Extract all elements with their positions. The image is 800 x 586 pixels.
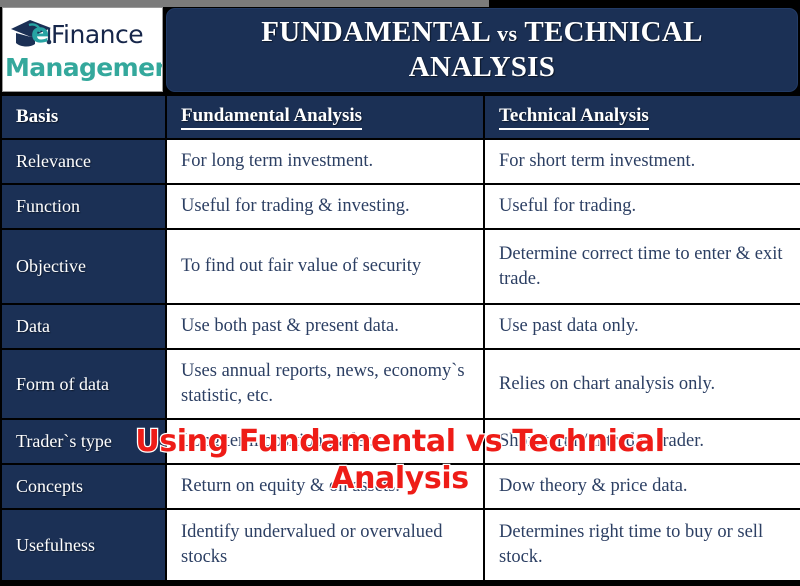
- row-fundamental-value: To find out fair value of security: [166, 229, 484, 304]
- title-part-analysis: ANALYSIS: [409, 51, 555, 83]
- column-header-fundamental: Fundamental Analysis: [166, 95, 484, 139]
- title-banner: FUNDAMENTAL vs TECHNICAL ANALYSIS: [166, 8, 798, 92]
- row-fundamental-value: Useful for trading & investing.: [166, 184, 484, 229]
- row-technical-value: Relies on chart analysis only.: [484, 349, 800, 419]
- logo-finance-word: Finance: [51, 22, 143, 47]
- table-row: Data Use both past & present data. Use p…: [1, 304, 800, 349]
- row-fundamental-value: Use both past & present data.: [166, 304, 484, 349]
- brand-logo: e Finance Management: [2, 7, 163, 92]
- row-basis-label: Objective: [1, 229, 166, 304]
- row-basis-label: Trader`s type: [1, 419, 166, 464]
- row-technical-value: For short term investment.: [484, 139, 800, 184]
- row-basis-label: Usefulness: [1, 509, 166, 581]
- column-header-basis: Basis: [1, 95, 166, 139]
- table-row: Objective To find out fair value of secu…: [1, 229, 800, 304]
- column-header-technical: Technical Analysis: [484, 95, 800, 139]
- row-fundamental-value: Return on equity & on assets.: [166, 464, 484, 509]
- bottom-band: [0, 582, 800, 586]
- title-part-fundamental: FUNDAMENTAL: [261, 16, 489, 48]
- row-technical-value: Dow theory & price data.: [484, 464, 800, 509]
- row-basis-label: Function: [1, 184, 166, 229]
- row-technical-value: Determines right time to buy or sell sto…: [484, 509, 800, 581]
- page-title: FUNDAMENTAL vs TECHNICAL ANALYSIS: [251, 15, 712, 86]
- row-technical-value: Useful for trading.: [484, 184, 800, 229]
- table-row: Concepts Return on equity & on assets. D…: [1, 464, 800, 509]
- row-fundamental-value: Uses annual reports, news, economy`s sta…: [166, 349, 484, 419]
- table-row: Form of data Uses annual reports, news, …: [1, 349, 800, 419]
- row-fundamental-value: Identify undervalued or overvalued stock…: [166, 509, 484, 581]
- title-vs: vs: [497, 21, 517, 46]
- row-fundamental-value: For long term investment.: [166, 139, 484, 184]
- row-technical-value: Determine correct time to enter & exit t…: [484, 229, 800, 304]
- column-header-fundamental-label: Fundamental Analysis: [181, 105, 362, 130]
- row-fundamental-value: Long term position trader.: [166, 419, 484, 464]
- table-row: Function Useful for trading & investing.…: [1, 184, 800, 229]
- title-part-technical: TECHNICAL: [524, 16, 702, 48]
- table-row: Relevance For long term investment. For …: [1, 139, 800, 184]
- column-header-technical-label: Technical Analysis: [499, 105, 649, 130]
- table-row: Usefulness Identify undervalued or overv…: [1, 509, 800, 581]
- comparison-table-wrapper: Basis Fundamental Analysis Technical Ana…: [0, 94, 800, 582]
- comparison-table: Basis Fundamental Analysis Technical Ana…: [0, 94, 800, 582]
- row-technical-value: Use past data only.: [484, 304, 800, 349]
- logo-management-word: Management: [5, 55, 163, 80]
- table-header-row: Basis Fundamental Analysis Technical Ana…: [1, 95, 800, 139]
- logo-e-mark: e: [31, 20, 49, 47]
- header-band: e Finance Management FUNDAMENTAL vs TECH…: [0, 7, 800, 94]
- row-basis-label: Concepts: [1, 464, 166, 509]
- row-technical-value: Short term / intraday trader.: [484, 419, 800, 464]
- row-basis-label: Data: [1, 304, 166, 349]
- row-basis-label: Relevance: [1, 139, 166, 184]
- row-basis-label: Form of data: [1, 349, 166, 419]
- top-strip-right: [489, 0, 800, 7]
- table-row: Trader`s type Long term position trader.…: [1, 419, 800, 464]
- infographic-page: e Finance Management FUNDAMENTAL vs TECH…: [0, 0, 800, 586]
